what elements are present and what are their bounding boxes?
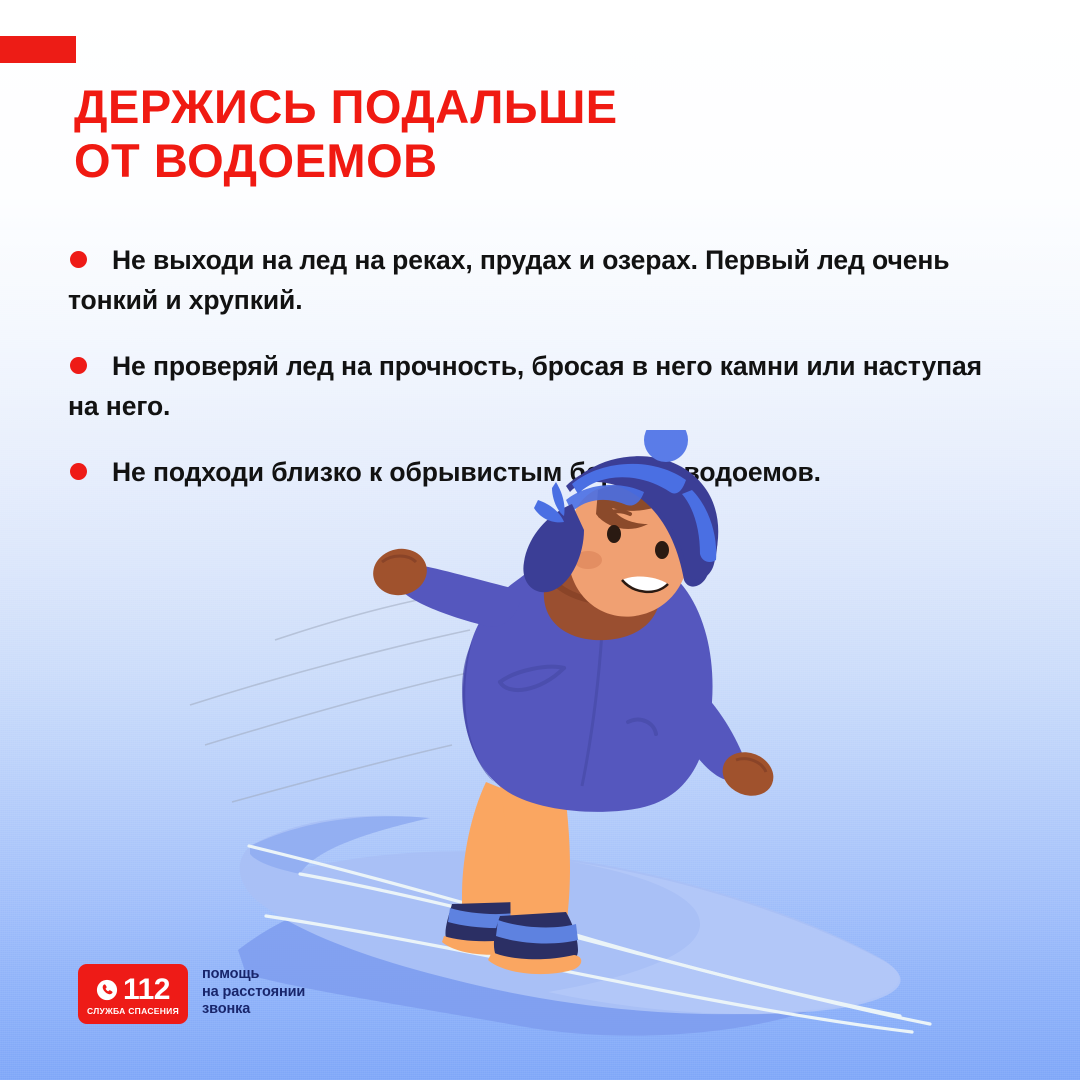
- 112-badge: 112 СЛУЖБА СПАСЕНИЯ: [78, 964, 188, 1024]
- emergency-service-logo: 112 СЛУЖБА СПАСЕНИЯ помощь на расстоянии…: [78, 964, 305, 1024]
- eye-right: [655, 541, 669, 559]
- phone-handset-icon: [96, 979, 118, 1001]
- list-item: Не проверяй лед на прочность, бросая в н…: [68, 346, 998, 426]
- motion-lines: [190, 592, 500, 802]
- ice-sheet: [238, 816, 930, 1036]
- badge-number: 112: [123, 975, 170, 1005]
- bullet-text-thin-ice: Не выходи на лед на реках, прудах и озер…: [68, 240, 998, 320]
- tagline-line-2: на расстоянии: [202, 984, 305, 1002]
- tagline-line-3: звонка: [202, 1001, 305, 1019]
- page-title: ДЕРЖИСЬ ПОДАЛЬШЕ ОТ ВОДОЕМОВ: [74, 80, 1014, 188]
- bullet-dot-icon: [70, 251, 87, 268]
- tagline-line-1: помощь: [202, 966, 305, 984]
- poster-canvas: ДЕРЖИСЬ ПОДАЛЬШЕ ОТ ВОДОЕМОВ Не выходи н…: [0, 0, 1080, 1080]
- logo-tagline: помощь на расстоянии звонка: [202, 966, 305, 1019]
- badge-subtitle: СЛУЖБА СПАСЕНИЯ: [87, 1006, 179, 1017]
- eye-left: [607, 525, 621, 543]
- list-item: Не выходи на лед на реках, прудах и озер…: [68, 240, 998, 320]
- badge-number-row: 112: [96, 975, 170, 1005]
- page-title-line-1: ДЕРЖИСЬ ПОДАЛЬШЕ: [74, 80, 1014, 134]
- bullet-dot-icon: [70, 357, 87, 374]
- red-accent-bar: [0, 36, 76, 63]
- bullet-text-dont-test-ice: Не проверяй лед на прочность, бросая в н…: [68, 346, 998, 426]
- page-title-line-2: ОТ ВОДОЕМОВ: [74, 134, 1014, 188]
